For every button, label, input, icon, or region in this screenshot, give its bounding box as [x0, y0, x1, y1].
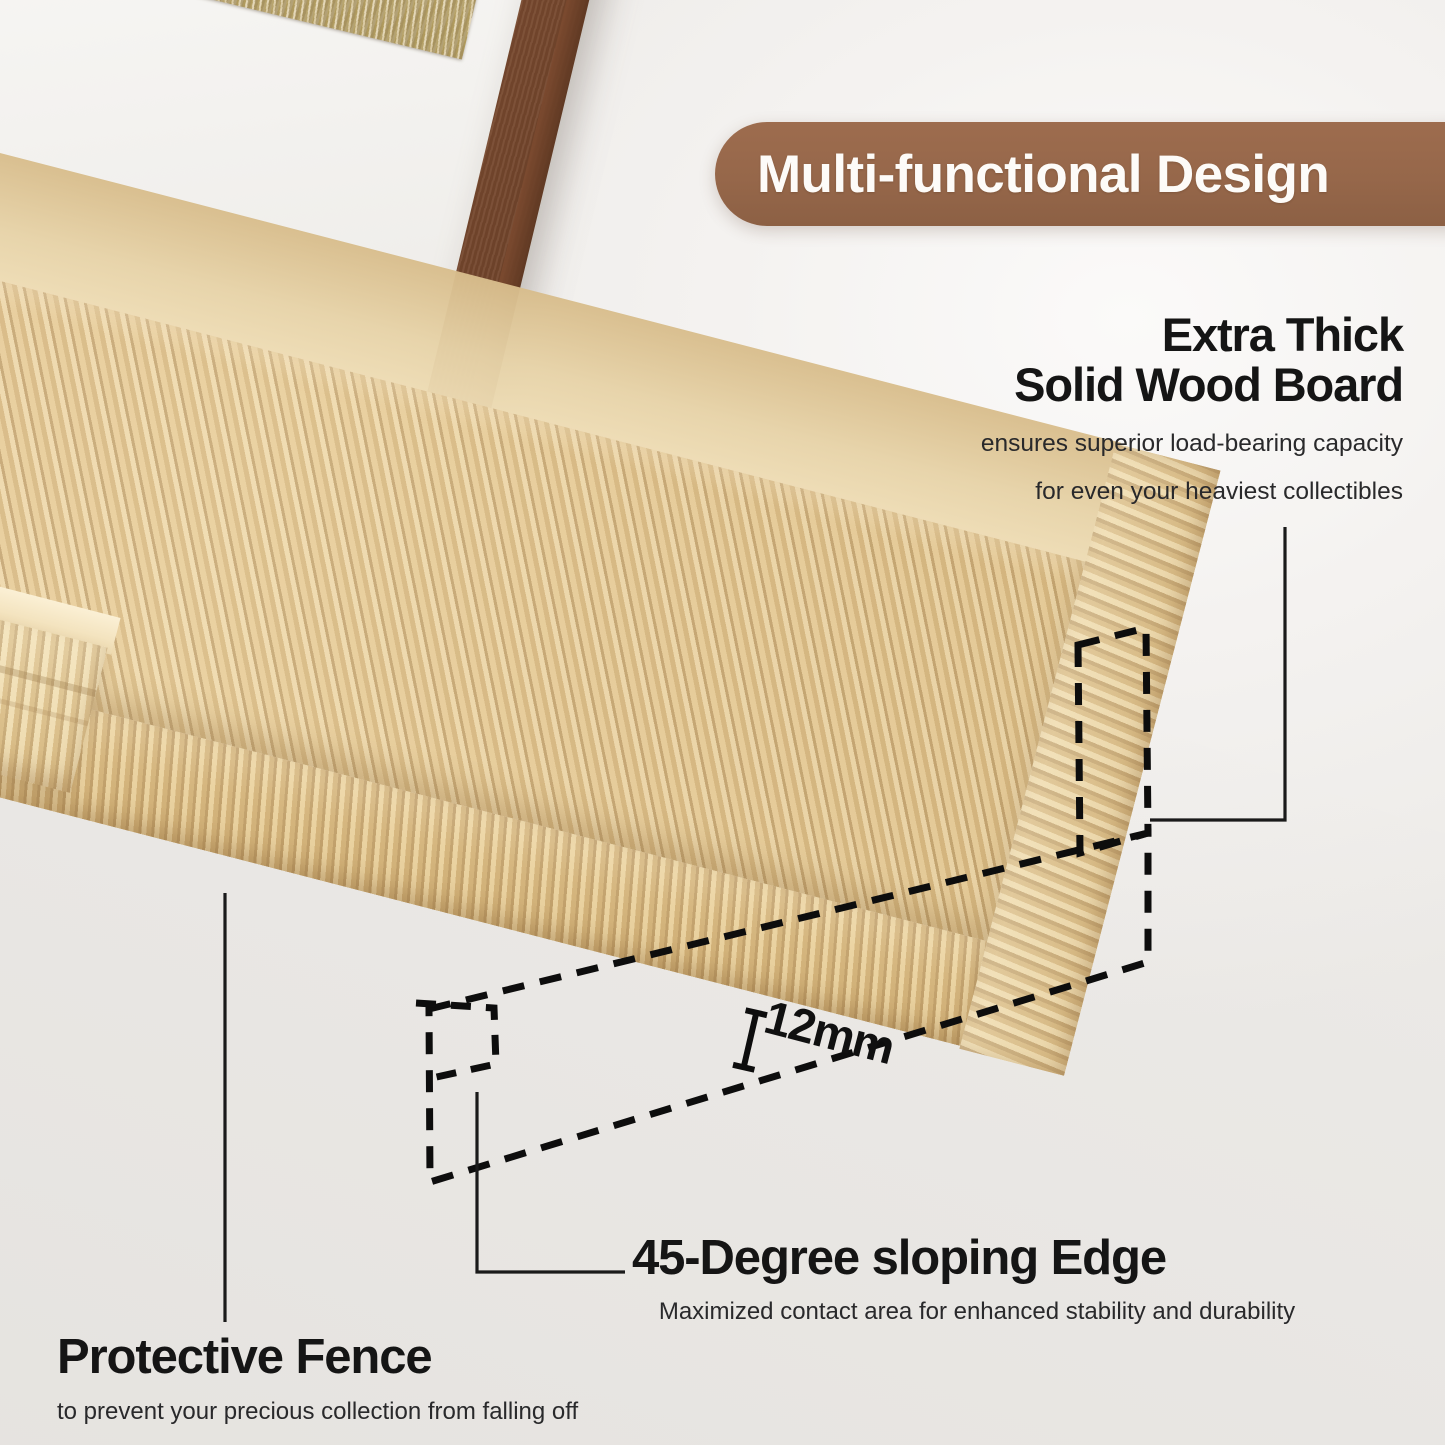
banner-title: Multi-functional Design — [757, 144, 1329, 205]
callout-sloping-edge-sub: Maximized contact area for enhanced stab… — [632, 1296, 1322, 1327]
callout-protective-fence-sub: to prevent your precious collection from… — [57, 1396, 717, 1427]
callout-extra-thick: Extra Thick Solid Wood Board ensures sup… — [763, 310, 1403, 508]
callout-protective-fence-heading: Protective Fence — [57, 1331, 717, 1383]
callout-extra-thick-sub-line2: for even your heaviest collectibles — [763, 476, 1403, 508]
product-infographic: 12mm Multi-functional Design Extra Thick… — [0, 0, 1445, 1445]
header-banner: Multi-functional Design — [715, 122, 1445, 226]
callout-extra-thick-sub-line1: ensures superior load-bearing capacity — [763, 428, 1403, 460]
callout-protective-fence: Protective Fence to prevent your preciou… — [57, 1331, 717, 1428]
callout-extra-thick-heading-line2: Solid Wood Board — [763, 360, 1403, 410]
callout-extra-thick-heading-line1: Extra Thick — [763, 310, 1403, 360]
callout-sloping-edge: 45-Degree sloping Edge Maximized contact… — [632, 1232, 1322, 1328]
callout-sloping-edge-heading: 45-Degree sloping Edge — [632, 1232, 1322, 1284]
